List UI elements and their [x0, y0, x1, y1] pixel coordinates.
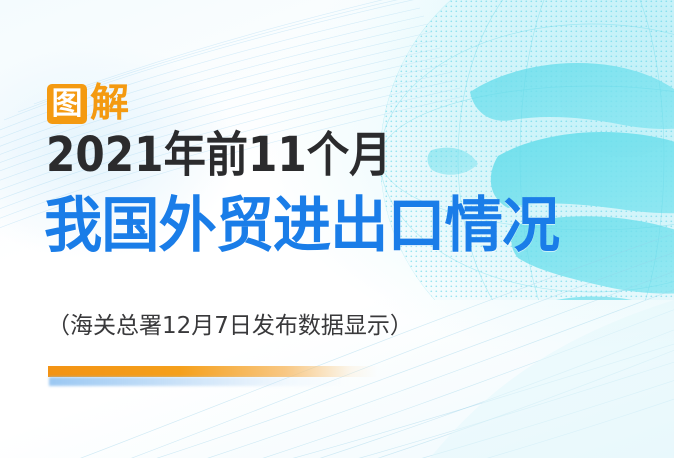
divider-bar-fill [48, 366, 378, 377]
divider-bar-shadow [49, 377, 349, 386]
page-subtitle-period: 2021年前11个月 [46, 128, 391, 182]
tag-plain-character: 解 [90, 84, 129, 124]
section-tag: 图 解 [47, 82, 129, 126]
orange-divider-bar [48, 366, 378, 386]
tag-boxed-character: 图 [47, 84, 87, 124]
infographic-poster: 图 解 2021年前11个月 我国外贸进出口情况 （海关总署12月7日发布数据显… [0, 0, 674, 458]
source-note: （海关总署12月7日发布数据显示） [47, 309, 413, 343]
page-title: 我国外贸进出口情况 [44, 190, 559, 262]
